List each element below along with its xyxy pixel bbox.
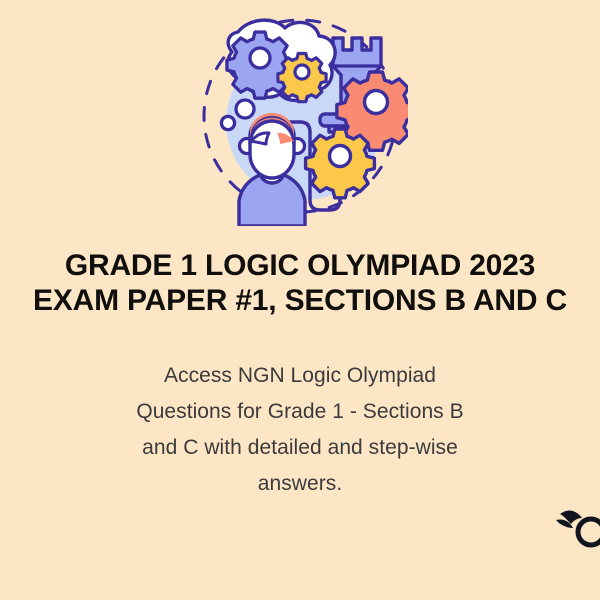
illustration-container	[0, 8, 600, 228]
partial-logo-glyph	[554, 498, 600, 558]
page-subtitle: Access NGN Logic Olympiad Questions for …	[110, 358, 490, 502]
partial-logo-glyph-icon	[554, 498, 600, 558]
bubble-gear-small	[278, 54, 326, 102]
subtitle-line-4: answers.	[110, 466, 490, 502]
yellow-gear	[306, 129, 375, 198]
subtitle-line-2: Questions for Grade 1 - Sections B	[110, 394, 490, 430]
subtitle-line-1: Access NGN Logic Olympiad	[110, 358, 490, 394]
logic-olympiad-illustration	[192, 10, 408, 226]
subtitle-line-3: and C with detailed and step-wise	[110, 430, 490, 466]
title-line-2: EXAM PAPER #1, SECTIONS B AND C	[0, 283, 600, 318]
page-title: GRADE 1 LOGIC OLYMPIAD 2023 EXAM PAPER #…	[0, 248, 600, 318]
title-line-1: GRADE 1 LOGIC OLYMPIAD 2023	[0, 248, 600, 283]
thought-dot-small	[221, 116, 234, 129]
thought-dot-large	[236, 100, 254, 118]
poster-canvas: GRADE 1 LOGIC OLYMPIAD 2023 EXAM PAPER #…	[0, 0, 600, 600]
